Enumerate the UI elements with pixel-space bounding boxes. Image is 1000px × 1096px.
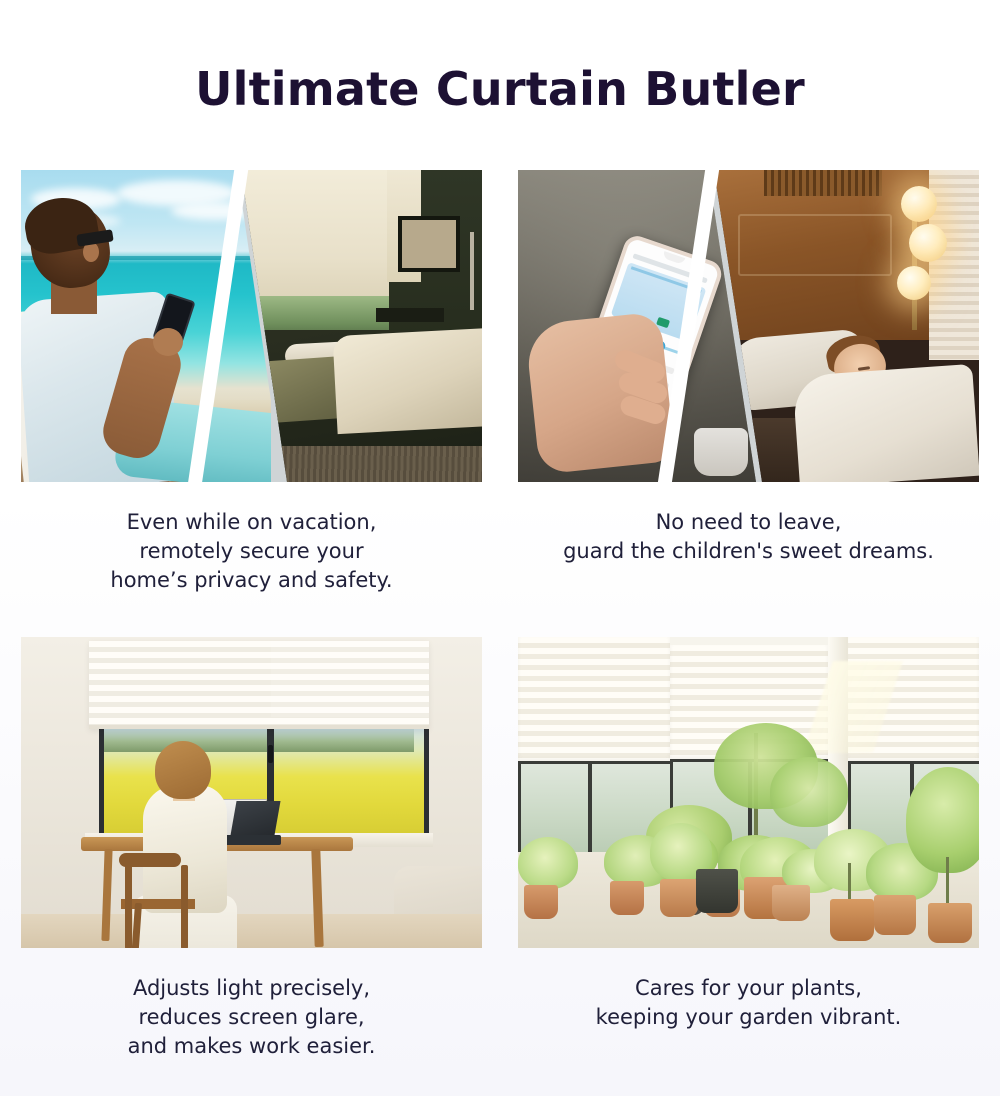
globe-lamp	[897, 266, 931, 300]
pleated-blind-secondary	[271, 641, 429, 717]
product-feature-page: Ultimate Curtain Butler	[0, 0, 1000, 1096]
plant-pot	[610, 881, 644, 915]
feature-caption: Cares for your plants, keeping your gard…	[518, 974, 979, 1032]
plant-pot	[696, 869, 738, 913]
wall-art-frame	[398, 216, 460, 272]
plant-pot	[772, 885, 810, 921]
pleated-blind	[518, 637, 670, 761]
woman-hair	[155, 741, 211, 799]
headboard-panel	[738, 214, 892, 276]
globe-lamp	[909, 224, 947, 262]
feature-card-plant-care: Cares for your plants, keeping your gard…	[518, 637, 979, 1032]
feature-card-children-sleep: No need to leave, guard the children's s…	[518, 170, 979, 566]
plant-pot	[524, 885, 558, 919]
phone-app-and-sleeping-child-split-photo	[518, 170, 979, 482]
distant-treeline	[104, 726, 414, 752]
plant-pot	[928, 903, 972, 943]
woman-working-at-desk-by-window-photo	[21, 637, 482, 948]
plant-foliage	[518, 837, 578, 889]
feature-caption: Adjusts light precisely, reduces screen …	[21, 974, 482, 1061]
feature-caption: Even while on vacation, remotely secure …	[21, 508, 482, 595]
feature-card-work-light: Adjusts light precisely, reduces screen …	[21, 637, 482, 1061]
feature-card-vacation-privacy: Even while on vacation, remotely secure …	[21, 170, 482, 595]
tall-plant-foliage	[906, 767, 979, 873]
chair-leg	[181, 865, 188, 948]
nightstand	[376, 308, 444, 322]
floor	[21, 914, 482, 948]
plant-pot	[830, 899, 874, 941]
feature-caption: No need to leave, guard the children's s…	[518, 508, 979, 566]
headboard-grille	[764, 170, 882, 196]
window-blind	[929, 170, 979, 360]
roller-blind	[239, 170, 389, 300]
sunroom-with-potted-plants-photo	[518, 637, 979, 948]
tall-plant-foliage	[770, 757, 848, 827]
chair-leg	[125, 865, 132, 948]
rug	[239, 446, 482, 482]
floor-lamp	[470, 232, 474, 310]
beach-vacation-and-bedroom-blind-split-photo	[21, 170, 482, 482]
phone-notch	[662, 251, 685, 265]
plant-pot	[660, 879, 698, 917]
duvet	[792, 364, 979, 482]
laptop-base	[221, 835, 281, 845]
cup	[694, 428, 748, 476]
globe-lamp	[901, 186, 937, 222]
man-hand	[153, 328, 183, 356]
window-mullion	[588, 763, 592, 859]
page-title: Ultimate Curtain Butler	[0, 62, 1000, 116]
window-handle	[268, 745, 273, 763]
duvet	[333, 328, 482, 434]
plant-pot	[874, 895, 916, 935]
